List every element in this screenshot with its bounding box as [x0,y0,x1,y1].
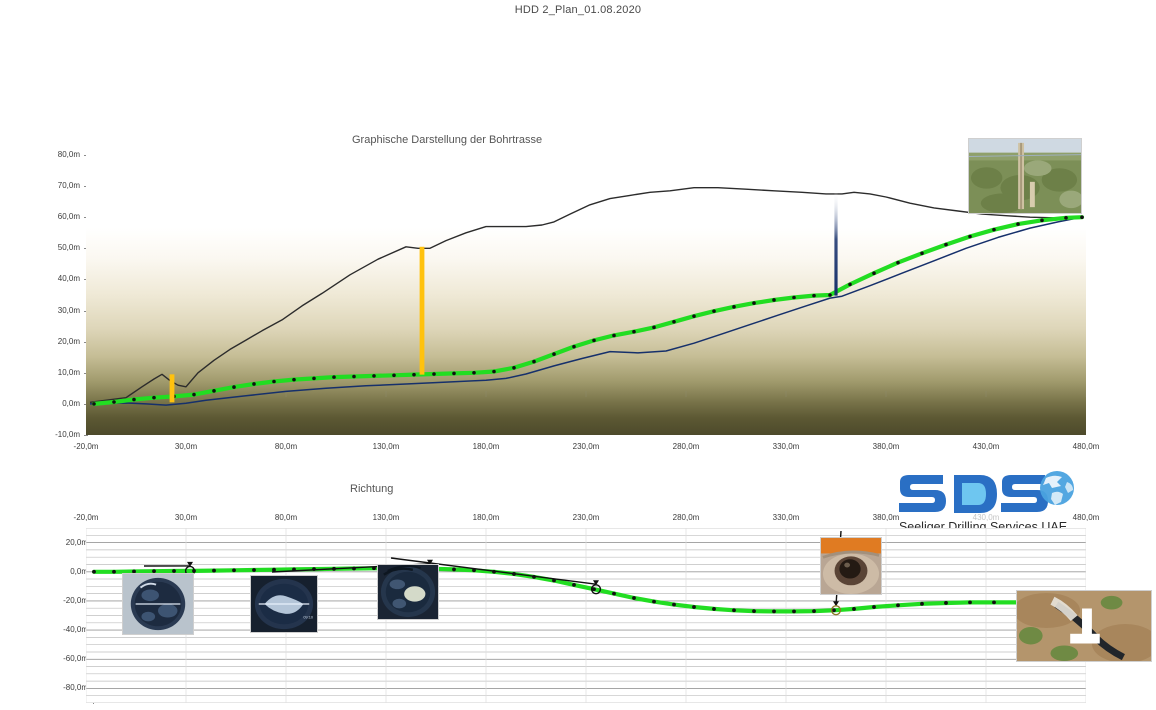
page-title: HDD 2_Plan_01.08.2020 [0,4,1156,16]
direction-point [632,596,636,600]
photo-bore-1-image [123,574,193,634]
y-tick-label: 0,0m [42,567,88,576]
bore-actual-point [532,360,536,364]
bore-actual-point [192,393,196,397]
chart-richtung-title: Richtung [350,483,393,495]
bore-actual-point [292,378,296,382]
bore-actual-point [252,382,256,386]
bohrpunkt-marker-2 [420,247,425,375]
bore-actual-point [312,377,316,381]
bore-actual-point [352,375,356,379]
x-tick-label: 480,0m [1056,513,1116,522]
bore-actual-point [792,296,796,300]
bohrtrasse-profile-svg [86,155,1086,435]
photo-entry-field-image [969,139,1081,213]
x-tick-label: 230,0m [556,442,616,451]
y-tick-label: 20,0m [42,538,88,547]
bore-actual-point [432,372,436,376]
bore-actual-point [652,326,656,330]
direction-point [772,610,776,614]
direction-point [232,568,236,572]
y-tick-label: -10,0m [34,430,80,439]
y-tick-label: 10,0m [34,368,80,377]
direction-point [612,592,616,596]
direction-point [712,607,716,611]
direction-point [672,603,676,607]
bohrpunkt-marker-1 [170,374,175,402]
y-tick-label: -40,0m [42,625,88,634]
direction-point [572,583,576,587]
x-tick-label: 130,0m [356,513,416,522]
bore-actual-point [920,252,924,256]
direction-point [832,608,836,612]
x-tick-label: 30,0m [156,513,216,522]
bore-actual-point [572,345,576,349]
x-tick-label: 280,0m [656,513,716,522]
direction-point [692,605,696,609]
bore-actual-point [592,339,596,343]
bore-actual-point [632,330,636,334]
chart-richtung-plot-area [86,528,1086,703]
bore-actual-point [272,380,276,384]
x-tick-label: 130,0m [356,442,416,451]
photo-bore-1 [122,573,194,635]
bore-actual-point [672,320,676,324]
y-tick-label: 70,0m [34,181,80,190]
photo-exit-field [1016,590,1152,662]
bore-actual-point [612,334,616,338]
x-tick-label: 430,0m [956,513,1016,522]
direction-actual-line [94,568,1082,611]
hdd-plan-page: HDD 2_Plan_01.08.2020 Graphische Darstel… [0,0,1156,710]
bore-actual-point [492,370,496,374]
photo-exit-field-image [1017,591,1151,661]
chart-richtung: Richtung -20,0m30,0m80,0m130,0m180,0m230… [0,480,1156,710]
bore-design-line [90,217,1082,405]
bore-actual-point [872,271,876,275]
chart-bohrtrasse-plot-area [86,155,1086,435]
photo-bore-2: 09:10 [250,575,318,633]
direction-point [92,570,96,574]
bore-actual-point [1016,222,1020,226]
bore-actual-point [372,374,376,378]
x-tick-label: 180,0m [456,513,516,522]
bore-actual-point [152,396,156,400]
photo-bore-3 [377,564,439,620]
direction-point [896,603,900,607]
bore-actual-point [1064,216,1068,220]
richtung-profile-svg [86,528,1086,703]
y-tick-label: -80,0m [42,683,88,692]
bore-actual-point [896,261,900,265]
bohrpunkt-marker-3 [834,193,837,296]
direction-point [872,605,876,609]
direction-point [272,568,276,572]
bore-actual-point [992,228,996,232]
bore-actual-point [112,400,116,404]
photo-bore-4-image [821,538,881,594]
terrain-profile-line [90,188,1082,403]
direction-point [852,607,856,611]
bore-actual-point [1040,219,1044,223]
bore-actual-point [552,352,556,356]
y-tick-label: 20,0m [34,337,80,346]
chart-bohrtrasse-title: Graphische Darstellung der Bohrtrasse [352,134,542,146]
x-tick-label: 80,0m [256,513,316,522]
direction-point [920,602,924,606]
direction-point [212,569,216,573]
direction-point [732,608,736,612]
y-tick-label: -60,0m [42,654,88,663]
direction-point [112,570,116,574]
bore-actual-point [692,314,696,318]
bore-actual-point [828,293,832,297]
chart-bohrtrasse: Graphische Darstellung der Bohrtrasse 80… [0,130,1156,460]
photo-bore-4 [820,537,882,595]
direction-point [592,587,596,591]
bore-actual-point [752,301,756,305]
bore-actual-point [1080,215,1084,219]
bore-actual-point [772,298,776,302]
direction-point [992,600,996,604]
direction-point [252,568,256,572]
bore-actual-point [332,375,336,379]
bore-actual-point [232,385,236,389]
y-tick-label: -20,0m [42,596,88,605]
direction-point [652,600,656,604]
x-tick-label: 330,0m [756,513,816,522]
bore-actual-point [132,398,136,402]
bore-actual-point [512,366,516,370]
svg-text:09:10: 09:10 [303,614,313,619]
x-tick-label: -20,0m [56,513,116,522]
bore-actual-point [212,389,216,393]
bore-actual-point [452,372,456,376]
y-tick-label: 30,0m [34,306,80,315]
x-tick-label: 380,0m [856,442,916,451]
direction-point [812,609,816,613]
photo-bore-3-image [378,565,438,619]
photo-bore-2-image: 09:10 [251,576,317,632]
y-tick-label: 0,0m [34,399,80,408]
y-tick-label: 80,0m [34,150,80,159]
x-tick-label: 230,0m [556,513,616,522]
x-tick-label: 280,0m [656,442,716,451]
bore-actual-point [92,402,96,406]
bore-actual-point [944,243,948,247]
direction-point [944,601,948,605]
bore-actual-point [472,371,476,375]
y-tick-label: 60,0m [34,212,80,221]
y-tick-label: 40,0m [34,274,80,283]
x-tick-label: 180,0m [456,442,516,451]
x-tick-label: 80,0m [256,442,316,451]
photo-entry-field [968,138,1082,214]
x-tick-label: 30,0m [156,442,216,451]
direction-point [752,609,756,613]
direction-point [792,610,796,614]
y-tick-label: 50,0m [34,243,80,252]
x-tick-label: 480,0m [1056,442,1116,451]
bore-actual-point [812,294,816,298]
direction-point [452,568,456,572]
x-tick-label: 330,0m [756,442,816,451]
bore-actual-point [968,235,972,239]
x-tick-label: 380,0m [856,513,916,522]
direction-point [968,600,972,604]
bore-actual-point [392,373,396,377]
bore-actual-point [712,309,716,313]
bore-actual-point [848,283,852,287]
x-tick-label: -20,0m [56,442,116,451]
bore-actual-point [732,305,736,309]
bore-actual-line [94,217,1082,404]
x-tick-label: 430,0m [956,442,1016,451]
bore-actual-point [412,373,416,377]
